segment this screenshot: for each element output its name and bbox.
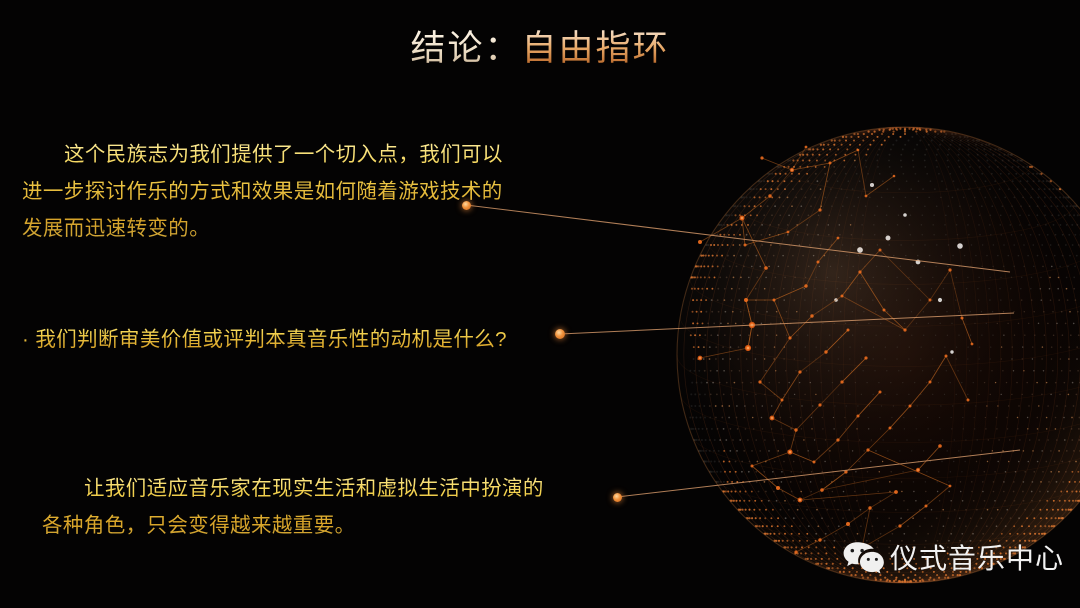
watermark-label: 仪式音乐中心	[890, 545, 1064, 573]
globe-meridians	[677, 127, 1080, 583]
slide-title-prefix: 结论：	[410, 29, 521, 68]
watermark: 仪式音乐中心	[843, 541, 1064, 577]
paragraph-1-line-3: 发展而迅速转变的。	[22, 210, 522, 247]
slide-title: 结论：自由指环	[0, 27, 1080, 71]
slide-title-main: 自由指环	[522, 29, 670, 68]
globe-dot-matrix	[689, 128, 1080, 583]
body-paragraph-1: 这个民族志为我们提供了一个切入点，我们可以 进一步探讨作乐的方式和效果是如何随着…	[22, 136, 522, 247]
paragraph-1-line-1: 这个民族志为我们提供了一个切入点，我们可以	[22, 136, 522, 173]
connector-dot-1	[462, 201, 471, 210]
paragraph-3-line-2: 各种角色，只会变得越来越重要。	[42, 507, 612, 544]
connector-dot-3	[613, 493, 622, 502]
paragraph-3-line-1: 让我们适应音乐家在现实生活和虚拟生活中扮演的	[42, 470, 612, 507]
wechat-logo-icon	[843, 541, 885, 577]
presentation-slide: 结论：自由指环 这个民族志为我们提供了一个切入点，我们可以 进一步探讨作乐的方式…	[0, 0, 1080, 608]
globe-network-links	[700, 147, 972, 552]
paragraph-1-line-2: 进一步探讨作乐的方式和效果是如何随着游戏技术的	[22, 173, 522, 210]
connector-dot-2	[555, 329, 565, 339]
globe-network-nodes	[698, 146, 974, 554]
body-paragraph-3: 让我们适应音乐家在现实生活和虚拟生活中扮演的 各种角色，只会变得越来越重要。	[42, 470, 612, 544]
paragraph-2-line-1: · 我们判断审美价值或评判本真音乐性的动机是什么?	[22, 321, 562, 358]
body-paragraph-2: · 我们判断审美价值或评判本真音乐性的动机是什么?	[22, 321, 562, 358]
